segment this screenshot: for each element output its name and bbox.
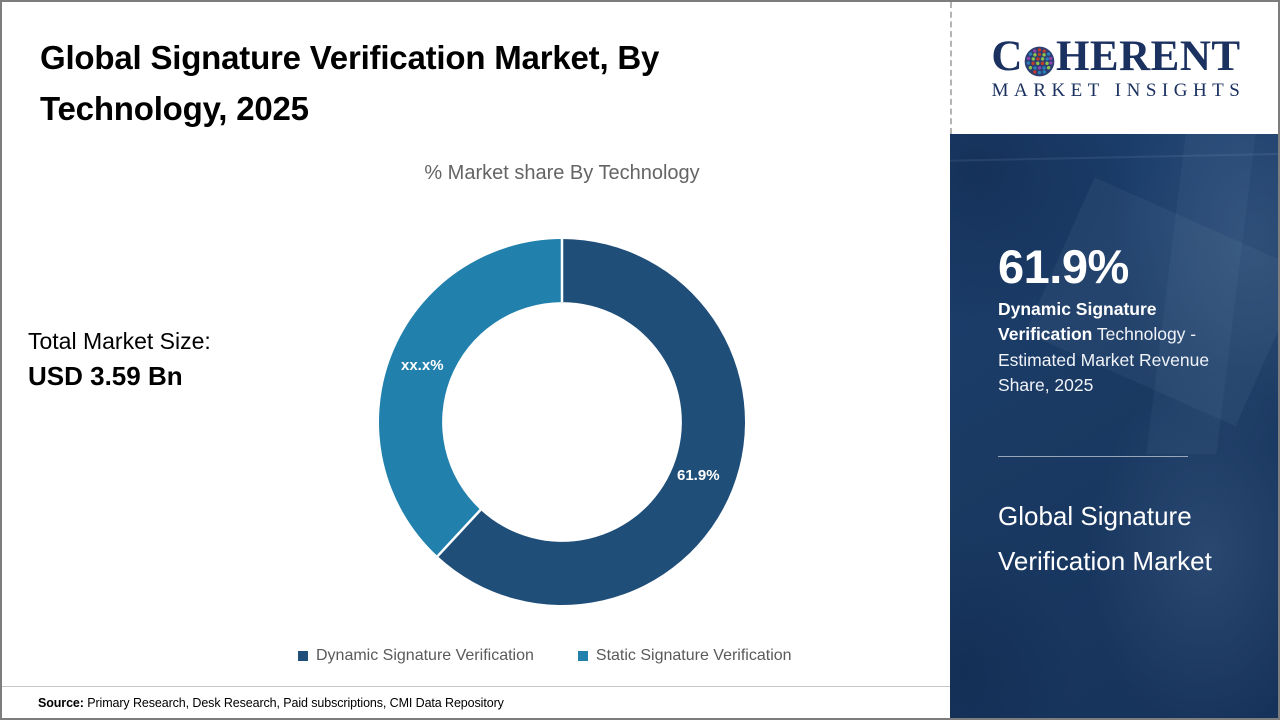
chart-subtitle: % Market share By Technology — [302, 162, 822, 185]
total-market-size-label: Total Market Size: — [28, 324, 211, 358]
highlight-stat-description: Dynamic Signature Verification Technolog… — [998, 297, 1240, 399]
donut-chart: xx.x% 61.9% — [379, 239, 745, 605]
logo-word-herent: HERENT — [1056, 35, 1241, 78]
donut-slice-static[interactable] — [379, 239, 562, 556]
globe-icon — [1024, 42, 1055, 73]
donut-chart-svg — [379, 239, 745, 605]
chart-pane: Global Signature Verification Market, By… — [2, 2, 950, 718]
legend-label-static: Static Signature Verification — [596, 647, 792, 665]
source-note: Source: Primary Research, Desk Research,… — [38, 696, 504, 710]
legend-swatch-dynamic — [298, 651, 308, 661]
highlight-panel: 61.9% Dynamic Signature Verification Tec… — [950, 134, 1280, 718]
legend-item-static[interactable]: Static Signature Verification — [578, 647, 792, 665]
legend-item-dynamic[interactable]: Dynamic Signature Verification — [298, 647, 534, 665]
total-market-size: Total Market Size: USD 3.59 Bn — [28, 324, 211, 394]
footer-bar: Source: Primary Research, Desk Research,… — [2, 686, 950, 718]
logo-tagline: MARKET INSIGHTS — [987, 80, 1246, 102]
donut-label-dynamic: 61.9% — [677, 467, 720, 484]
donut-label-static: xx.x% — [401, 357, 444, 374]
highlight-stat-block: 61.9% Dynamic Signature Verification Tec… — [998, 242, 1240, 399]
brand-pane: C — [950, 2, 1280, 718]
chart-legend: Dynamic Signature Verification Static Si… — [298, 647, 792, 665]
logo-wordmark: C — [991, 35, 1240, 78]
source-label: Source: — [38, 696, 84, 710]
legend-swatch-static — [578, 651, 588, 661]
panel-divider — [998, 456, 1188, 457]
source-text: Primary Research, Desk Research, Paid su… — [84, 696, 504, 710]
highlight-stat-number: 61.9% — [998, 242, 1240, 293]
page-title: Global Signature Verification Market, By… — [40, 32, 800, 134]
logo-letter-c: C — [991, 35, 1023, 78]
slide-canvas: Global Signature Verification Market, By… — [0, 0, 1280, 720]
legend-label-dynamic: Dynamic Signature Verification — [316, 647, 534, 665]
highlight-market-name: Global Signature Verification Market — [998, 494, 1248, 584]
total-market-size-value: USD 3.59 Bn — [28, 358, 211, 394]
logo-block: C — [950, 2, 1280, 134]
